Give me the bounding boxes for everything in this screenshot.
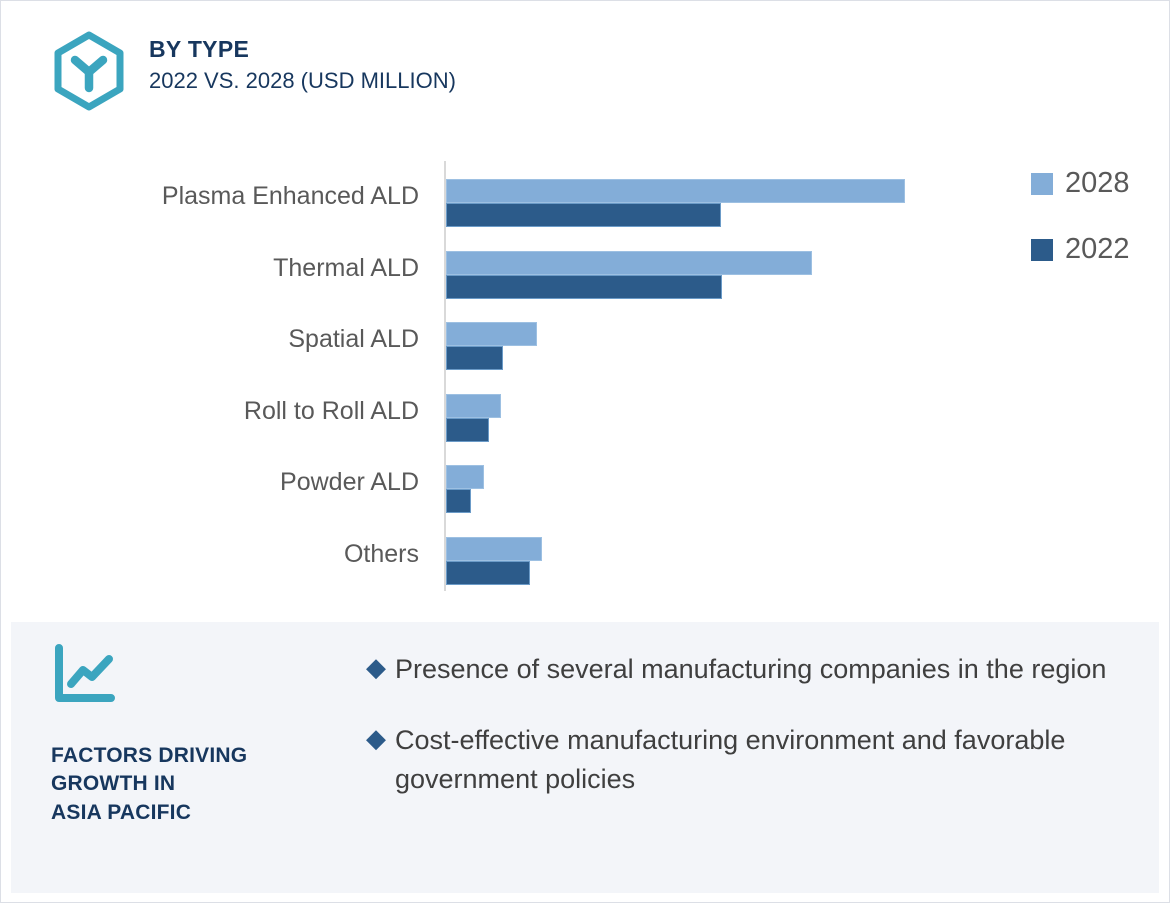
panel-heading: FACTORS DRIVINGGROWTH INASIA PACIFIC xyxy=(51,742,351,827)
bar-2028 xyxy=(446,179,905,203)
legend-item[interactable]: 2028 xyxy=(1031,169,1130,198)
category-label: Others xyxy=(1,542,419,567)
bar-2028 xyxy=(446,322,537,346)
infographic-page: BY TYPE 2022 VS. 2028 (USD MILLION) Plas… xyxy=(0,0,1170,903)
bar-2022 xyxy=(446,346,503,370)
legend-swatch-icon xyxy=(1031,173,1053,195)
line-chart-icon xyxy=(51,644,117,706)
panel-left-column: FACTORS DRIVINGGROWTH INASIA PACIFIC xyxy=(51,644,351,827)
legend-label: 2022 xyxy=(1065,235,1130,264)
bar-2022 xyxy=(446,203,721,227)
category-label: Powder ALD xyxy=(1,470,419,495)
panel-heading-line: FACTORS DRIVING xyxy=(51,742,351,770)
legend-label: 2028 xyxy=(1065,169,1130,198)
panel-heading-line: ASIA PACIFIC xyxy=(51,799,351,827)
category-axis-labels: Plasma Enhanced ALDThermal ALDSpatial AL… xyxy=(1,151,419,591)
diamond-bullet-icon: ◆ xyxy=(366,721,386,756)
header-text-block: BY TYPE 2022 VS. 2028 (USD MILLION) xyxy=(149,31,456,95)
plot-area xyxy=(444,161,1004,591)
bullet-item: ◆Presence of several manufacturing compa… xyxy=(366,650,1126,689)
panel-heading-line: GROWTH IN xyxy=(51,770,351,798)
category-label: Spatial ALD xyxy=(1,327,419,352)
bar-2028 xyxy=(446,394,501,418)
bullet-text: Presence of several manufacturing compan… xyxy=(395,650,1106,689)
bar-2022 xyxy=(446,275,722,299)
bullet-text: Cost-effective manufacturing environment… xyxy=(395,721,1126,799)
hexagon-y-icon xyxy=(51,31,127,111)
bullet-item: ◆Cost-effective manufacturing environmen… xyxy=(366,721,1126,799)
bar-2022 xyxy=(446,418,489,442)
page-title: BY TYPE xyxy=(149,35,456,64)
category-label: Plasma Enhanced ALD xyxy=(1,184,419,209)
bar-2028 xyxy=(446,465,484,489)
bar-chart: Plasma Enhanced ALDThermal ALDSpatial AL… xyxy=(1,151,1169,611)
bar-2028 xyxy=(446,251,812,275)
bar-2028 xyxy=(446,537,542,561)
bar-2022 xyxy=(446,489,471,513)
legend-item[interactable]: 2022 xyxy=(1031,235,1130,264)
category-label: Roll to Roll ALD xyxy=(1,399,419,424)
chart-legend: 20282022 xyxy=(1031,169,1130,301)
panel-bullet-list: ◆Presence of several manufacturing compa… xyxy=(366,650,1126,831)
factors-panel: FACTORS DRIVINGGROWTH INASIA PACIFIC ◆Pr… xyxy=(11,622,1159,893)
diamond-bullet-icon: ◆ xyxy=(366,650,386,685)
bar-2022 xyxy=(446,561,530,585)
header: BY TYPE 2022 VS. 2028 (USD MILLION) xyxy=(51,31,456,111)
page-subtitle: 2022 VS. 2028 (USD MILLION) xyxy=(149,67,456,96)
category-label: Thermal ALD xyxy=(1,256,419,281)
legend-swatch-icon xyxy=(1031,239,1053,261)
